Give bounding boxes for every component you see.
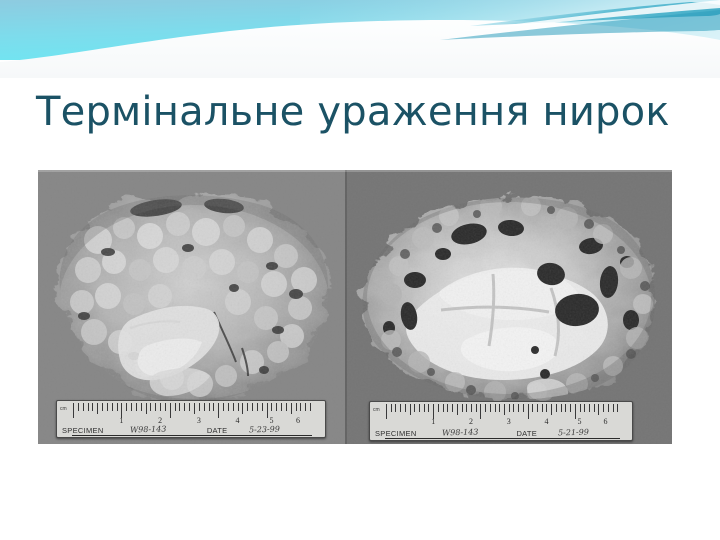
ruler-underline xyxy=(385,438,620,440)
date-value: 5-23-99 xyxy=(249,425,280,435)
ruler-label-row-left: SPECIMEN W98-143 DATE 5-23-99 xyxy=(59,423,323,436)
kidney-specimen-photo-left: cm xyxy=(38,170,345,444)
slide: Термінальне ураження нирок xyxy=(0,0,720,540)
ruler-number: 6 xyxy=(603,417,607,426)
ruler-number: 4 xyxy=(544,417,548,426)
ruler-number: 5 xyxy=(578,417,582,426)
panel-seam xyxy=(345,170,347,444)
ruler-right: cm xyxy=(369,401,633,441)
ruler-number: 3 xyxy=(507,417,511,426)
specimen-value: W98-143 xyxy=(442,428,479,438)
ruler-underline xyxy=(72,435,312,437)
ruler-number: 2 xyxy=(469,417,473,426)
wave-band-icon xyxy=(0,0,720,78)
ruler-label-row-right: SPECIMEN W98-143 DATE 5-21-99 xyxy=(372,426,630,439)
kidney-specimen-photo-right: cm xyxy=(345,170,672,444)
date-value: 5-21-99 xyxy=(558,428,589,438)
ruler-unit-label-left: cm xyxy=(60,406,67,412)
figure-top-edge xyxy=(38,170,672,172)
specimen-figure: cm xyxy=(38,170,672,444)
ruler-unit-label-right: cm xyxy=(373,407,380,413)
ruler-left: cm xyxy=(56,400,326,438)
ruler-number: 1 xyxy=(431,417,435,426)
header-wave-decoration xyxy=(0,0,720,78)
slide-title: Термінальне ураження нирок xyxy=(36,90,686,135)
specimen-value: W98-143 xyxy=(130,425,167,435)
